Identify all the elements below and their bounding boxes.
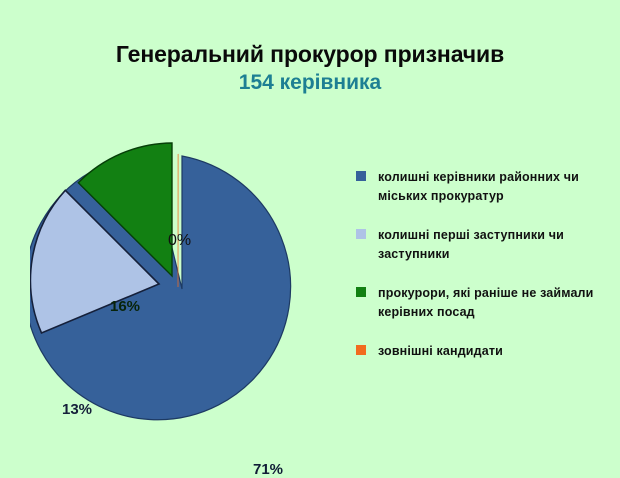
pie-label-external-candidates: 0% [168, 232, 191, 250]
chart-legend: колишні керівники районних чи міських пр… [356, 168, 614, 362]
legend-swatch-icon [356, 287, 366, 297]
legend-item-label: колишні перші заступники чи заступники [378, 226, 614, 264]
legend-swatch-icon [356, 345, 366, 355]
title-line-primary: Генеральний прокурор призначив [0, 42, 620, 68]
legend-item-label: колишні керівники районних чи міських пр… [378, 168, 614, 206]
legend-swatch-icon [356, 229, 366, 239]
legend-item-former-deputies[interactable]: колишні перші заступники чи заступники [356, 226, 614, 264]
legend-swatch-icon [356, 171, 366, 181]
pie-chart-slide: Генеральний прокурор призначив 154 керів… [0, 0, 620, 454]
legend-item-new-prosecutors[interactable]: прокурори, які раніше не займали керівни… [356, 284, 614, 322]
pie-label-new-prosecutors: 16% [110, 298, 140, 315]
legend-item-label: прокурори, які раніше не займали керівни… [378, 284, 614, 322]
legend-item-former-heads[interactable]: колишні керівники районних чи міських пр… [356, 168, 614, 206]
legend-item-external-candidates[interactable]: зовнішні кандидати [356, 342, 614, 362]
pie-label-former-deputies: 13% [62, 401, 92, 418]
title-line-count: 154 керівника [0, 71, 620, 95]
chart-title: Генеральний прокурор призначив 154 керів… [0, 42, 620, 94]
legend-item-label: зовнішні кандидати [378, 342, 614, 361]
pie-chart: 0% 16% 13% 71% [30, 120, 360, 454]
pie-label-former-heads: 71% [253, 461, 283, 478]
